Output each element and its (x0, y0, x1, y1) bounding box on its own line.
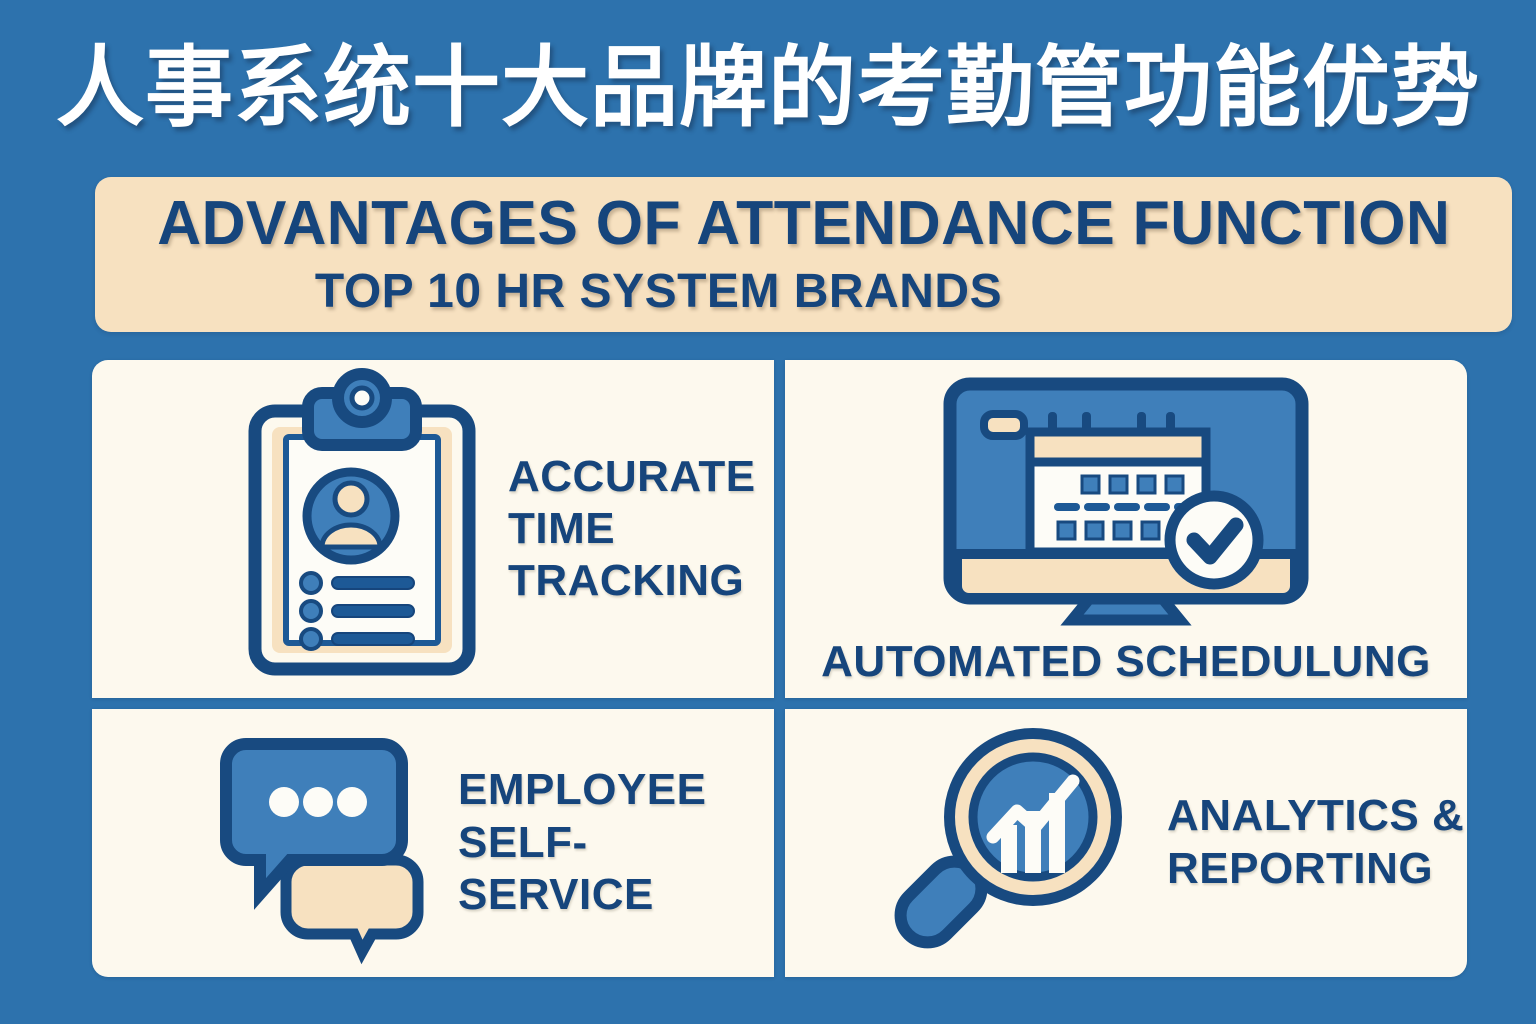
card-analytics-reporting[interactable]: ANALYTICS & REPORTING (785, 709, 1467, 977)
clipboard-profile-icon (246, 379, 478, 679)
subtitle-banner: ADVANTAGES OF ATTENDANCE FUNCTION TOP 10… (95, 177, 1512, 332)
card-automated-scheduling[interactable]: AUTOMATED SCHEDULUNG (785, 360, 1467, 698)
page-title: 人事系统十大品牌的考勤管功能优势 (0, 42, 1536, 134)
banner-subhead: TOP 10 HR SYSTEM BRANDS (315, 268, 1002, 316)
card-label-automated-scheduling: AUTOMATED SCHEDULUNG (821, 640, 1431, 684)
magnifier-bar-chart-icon (893, 729, 1133, 957)
monitor-calendar-check-icon (942, 376, 1310, 626)
card-label-accurate-time-tracking: ACCURATE TIME TRACKING (508, 451, 756, 607)
card-label-employee-self-service: EMPLOYEE SELF-SERVICE (458, 764, 774, 922)
chat-bubbles-icon (222, 736, 432, 951)
card-label-analytics-reporting: ANALYTICS & REPORTING (1167, 790, 1464, 896)
card-accurate-time-tracking[interactable]: ACCURATE TIME TRACKING (92, 360, 774, 698)
banner-headline: ADVANTAGES OF ATTENDANCE FUNCTION (157, 193, 1450, 255)
feature-card-grid: ACCURATE TIME TRACKING (92, 360, 1514, 977)
card-employee-self-service[interactable]: EMPLOYEE SELF-SERVICE (92, 709, 774, 977)
